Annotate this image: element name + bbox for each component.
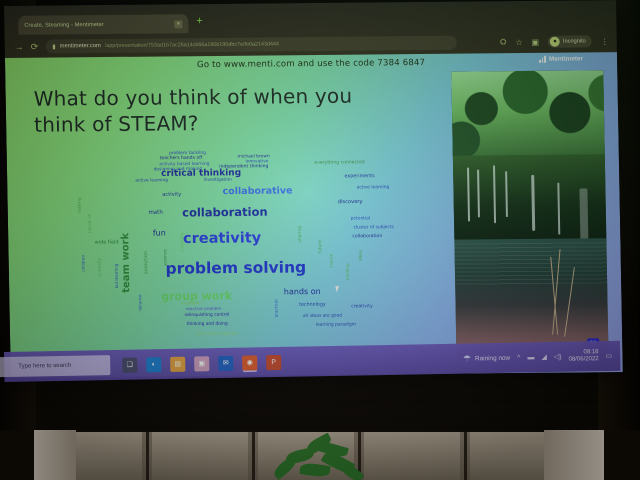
incognito-icon: ● [550,37,560,47]
taskbar-icon-edge[interactable]: ◐ [146,357,161,372]
word-cloud-term: curiosity [98,257,103,276]
taskbar-app-icons: ❑◐▤▣✉◉P [122,354,281,372]
toolbar-right: ⛭ ☆ ▣ ● Incognito ⋮ [500,30,609,53]
word-cloud-term: potential [351,217,371,222]
incognito-indicator[interactable]: ● Incognito [548,35,592,47]
house-plant [262,436,382,480]
close-icon[interactable]: × [174,20,182,28]
notification-icon[interactable]: ▭ [605,352,612,360]
word-cloud-term: learning paradigm [316,323,356,328]
word-cloud-term: problem tackling [169,152,206,157]
bookmark-icon[interactable]: ☆ [515,38,522,47]
word-cloud: problem solvingcreativitycollaborationco… [69,152,402,335]
word-cloud-term: active learning [135,179,168,184]
mentimeter-logo-text: Mentimeter [549,55,583,62]
search-placeholder: Type here to search [18,363,71,370]
search-input[interactable]: Type here to search [0,355,110,377]
word-cloud-term: creativity [351,305,373,310]
browser-chrome: Create, Steaming - Mentimeter × + → ⟳ ▮ … [4,0,617,58]
word-cloud-term: wide field [95,241,119,246]
curtain-right [544,430,604,480]
word-cloud-term: collaborative [222,186,292,196]
word-cloud-term: experiments [345,175,375,180]
projection-screen: Create, Steaming - Mentimeter × + → ⟳ ▮ … [4,0,623,378]
incognito-label: Incognito [563,38,586,44]
clock[interactable]: 08:18 08/06/2022 [568,349,598,365]
word-cloud-term: everything connected [314,161,364,166]
puzzle-icon[interactable]: ⛭ [500,37,507,47]
photo-water-ripples [454,242,607,285]
join-instruction-text: Go to www.menti.com and use the code 738… [197,58,425,70]
word-cloud-term: inspire [329,254,333,268]
taskbar-icon-mail[interactable]: ✉ [218,355,233,370]
mentimeter-bars-icon [539,56,546,63]
word-cloud-term: reactive problem [186,307,222,312]
word-cloud-term: collaboration [352,235,382,240]
network-icon[interactable]: ◢ [541,353,547,361]
word-cloud-term: active learning [357,186,390,191]
word-cloud-term: reliance [138,294,143,311]
room-photograph: Create, Steaming - Mentimeter × + → ⟳ ▮ … [0,0,640,480]
menu-icon[interactable]: ⋮ [601,37,609,46]
word-cloud-term: innovative [245,160,268,165]
word-cloud-term: designing and making [154,168,203,173]
word-cloud-term: hands on [88,214,93,233]
word-cloud-term: creativity [180,233,185,253]
curtain-left [34,430,76,480]
word-cloud-term: science [164,249,169,266]
system-tray: ☂ Raining now ^ ▬ ◢ ◁) 08:18 08/06/2022 … [463,348,621,366]
url-path: /app/presentation/753ad1b7ac26a14cb66a19… [105,41,279,49]
waterfall-photo: 33 [451,70,608,359]
tab-title: Create, Steaming - Mentimeter [24,21,169,28]
word-cloud-term: building [346,263,351,280]
word-cloud-term: discovery [338,200,363,205]
word-cloud-term: fun [153,230,166,238]
word-cloud-term: thinking and doing [187,323,228,328]
word-cloud-term: engaged [181,301,199,305]
word-cloud-term: solve tasks together [196,332,239,337]
word-cloud-term: cluster of subjects [354,226,394,231]
rain-icon: ☂ [463,353,471,364]
word-cloud-term: collaboration [182,207,268,219]
clock-date: 08/06/2022 [569,356,599,364]
word-cloud-term: independent thinking [219,166,268,171]
taskbar-icon-store[interactable]: ▣ [194,356,209,371]
new-tab-button[interactable]: + [196,16,203,27]
address-bar[interactable]: ▮ mentimeter.com /app/presentation/753ad… [45,36,457,54]
mentimeter-logo: Mentimeter [539,55,583,62]
word-cloud-term: activity [162,193,181,198]
word-cloud-term: creativity [183,231,261,246]
reload-icon[interactable]: ⟳ [31,41,39,52]
lock-icon: ▮ [52,43,55,50]
weather-widget[interactable]: ☂ Raining now [463,352,510,364]
tab-search-icon[interactable]: ▣ [531,37,539,46]
word-cloud-term: hands on [284,288,321,296]
taskbar-icon-powerpoint[interactable]: P [266,354,281,369]
word-cloud-term: relinquishing control [185,314,230,319]
word-cloud-term: activity based learning [159,163,209,168]
word-cloud-term: practical [274,299,279,317]
mentimeter-slide: Go to www.menti.com and use the code 738… [5,52,623,378]
taskbar-icon-chrome[interactable]: ◉ [242,355,257,370]
battery-icon[interactable]: ▬ [527,354,534,361]
word-cloud-term: investigation [203,179,232,184]
word-cloud-term: children [82,255,87,272]
word-cloud-term: problem solving [165,261,306,278]
word-cloud-term: technology [299,304,326,309]
taskbar-icon-task-view[interactable]: ❑ [122,357,137,372]
word-cloud-term: kid learning [115,263,120,288]
word-cloud-term: evolution [144,251,149,274]
slide-question-title: What do you think of when you think of S… [33,82,384,137]
word-cloud-term: all ideas are good [303,314,342,319]
taskbar-icon-file-explorer[interactable]: ▤ [170,356,185,371]
volume-icon[interactable]: ◁) [554,353,562,361]
word-cloud-term: team work [121,233,132,293]
word-cloud-term: math [148,211,162,217]
browser-tab[interactable]: Create, Steaming - Mentimeter × [18,14,188,35]
weather-label: Raining now [475,354,510,362]
word-cloud-term: future [319,240,324,253]
forward-icon[interactable]: → [15,42,24,52]
word-cloud-term: ideas [359,250,363,261]
word-cloud-term: sharing [299,226,304,242]
url-host: mentimeter.com [60,43,101,49]
word-cloud-term: making [77,198,81,214]
chevron-up-icon[interactable]: ^ [517,354,520,361]
